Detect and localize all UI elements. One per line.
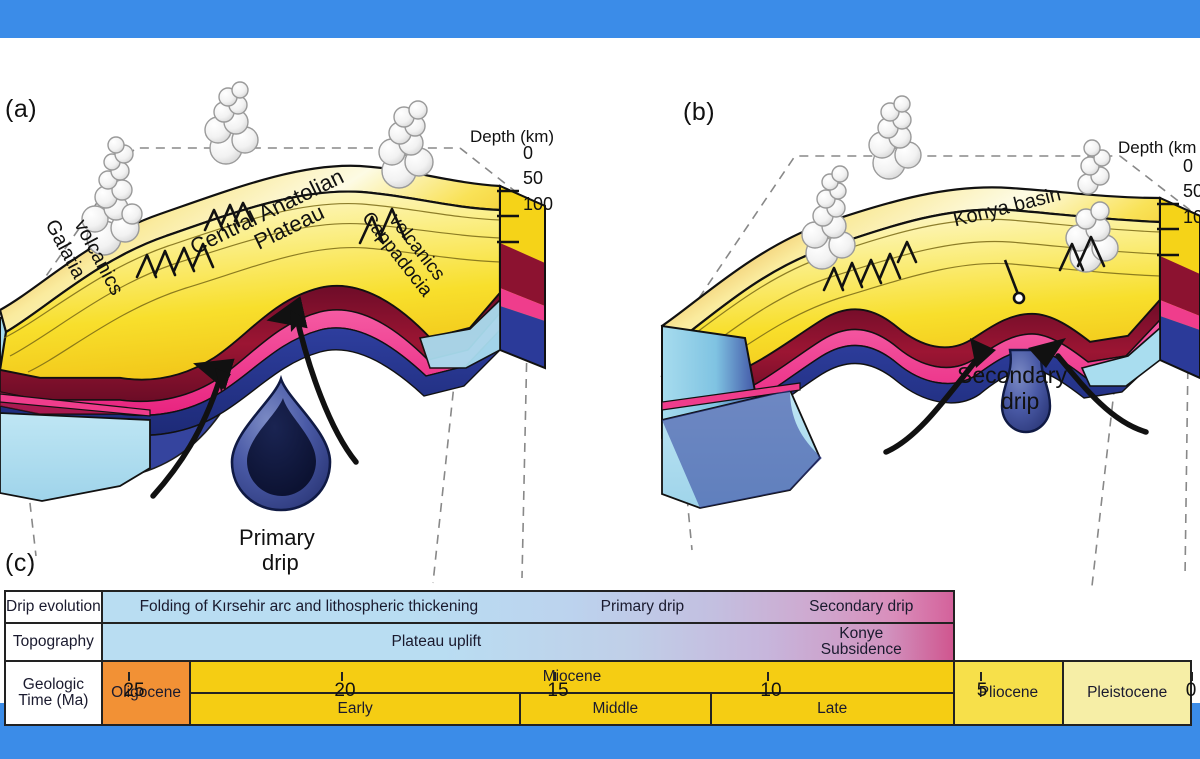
cell-plateau-uplift-label: Plateau uplift bbox=[103, 634, 770, 650]
cell-secondary-drip-label: Secondary drip bbox=[770, 599, 953, 615]
plume-b-left bbox=[802, 166, 855, 269]
table-row-topography: Topography Plateau uplift Konye Subsiden… bbox=[5, 623, 1191, 661]
panel-a-depth-tick-0: 0 bbox=[523, 143, 533, 164]
label-primary-drip-line1: Primary bbox=[239, 525, 315, 551]
tick-label-0: 0 bbox=[1186, 680, 1197, 702]
panel-a-letter: (a) bbox=[5, 95, 37, 124]
row-label-drip-evolution: Drip evolution bbox=[5, 591, 102, 623]
label-secondary-drip-line1: Secondary bbox=[957, 362, 1067, 389]
panel-b-depth-title: Depth (km bbox=[1118, 138, 1196, 158]
label-secondary-drip-line2: drip bbox=[1001, 388, 1039, 415]
tick-label-25: 25 bbox=[123, 680, 144, 702]
panel-b-depth-tick-50: 50 bbox=[1183, 181, 1200, 202]
panel-a-arrowheads bbox=[215, 310, 304, 392]
panel-a-upwelling-arrows bbox=[153, 314, 356, 496]
plume-central bbox=[205, 82, 258, 164]
panel-b-depth-tick-0: 0 bbox=[1183, 156, 1193, 177]
label-konya-basin: Konya basin bbox=[951, 183, 1063, 232]
panel-b-reference-box bbox=[672, 156, 1190, 586]
time-axis: 25 20 15 10 5 0 bbox=[0, 672, 1200, 712]
figure-canvas: (a) (b) (c) bbox=[0, 38, 1200, 703]
primary-drip-shape bbox=[232, 379, 330, 510]
panel-a-depth-title: Depth (km) bbox=[470, 127, 554, 147]
tick-label-5: 5 bbox=[977, 680, 988, 702]
row-label-topography: Topography bbox=[5, 623, 102, 661]
panel-a-depth-axis bbox=[497, 191, 519, 242]
panel-b-mountain-glyphs bbox=[824, 237, 1104, 290]
cell-folding-label: Folding of Kırsehir arc and lithospheric… bbox=[103, 599, 515, 615]
panel-b-depth-tick-100: 10 bbox=[1183, 207, 1200, 228]
panel-b-block bbox=[662, 187, 1200, 508]
cell-primary-drip-label: Primary drip bbox=[515, 599, 770, 615]
konya-basin-marker bbox=[1014, 293, 1024, 303]
panel-a-depth-tick-100: 100 bbox=[523, 194, 553, 215]
top-banner bbox=[0, 0, 1200, 38]
panel-b-letter: (b) bbox=[683, 98, 715, 127]
konye-line2: Subsidence bbox=[821, 641, 902, 658]
tick-label-10: 10 bbox=[760, 680, 781, 702]
table-row-drip-evolution: Drip evolution Folding of Kırsehir arc a… bbox=[5, 591, 1191, 623]
panel-b-depth-axis bbox=[1157, 204, 1179, 255]
cell-konye-subsidence: Konye Subsidence bbox=[770, 626, 953, 659]
plume-b-right bbox=[1066, 140, 1118, 272]
konya-basin-pointer bbox=[1005, 260, 1018, 294]
panel-b-volcano-plumes bbox=[802, 96, 1118, 272]
label-primary-drip-line2: drip bbox=[262, 550, 299, 576]
panel-a-depth-tick-50: 50 bbox=[523, 168, 543, 189]
tick-label-15: 15 bbox=[547, 680, 568, 702]
plume-b-center bbox=[869, 96, 921, 179]
konye-line1: Konye bbox=[839, 625, 883, 642]
cell-topography: Plateau uplift Konye Subsidence bbox=[102, 623, 954, 661]
panel-c-letter: (c) bbox=[5, 549, 36, 578]
tick-label-20: 20 bbox=[334, 680, 355, 702]
plume-cappadocia bbox=[379, 101, 433, 188]
cell-folding: Folding of Kırsehir arc and lithospheric… bbox=[102, 591, 954, 623]
